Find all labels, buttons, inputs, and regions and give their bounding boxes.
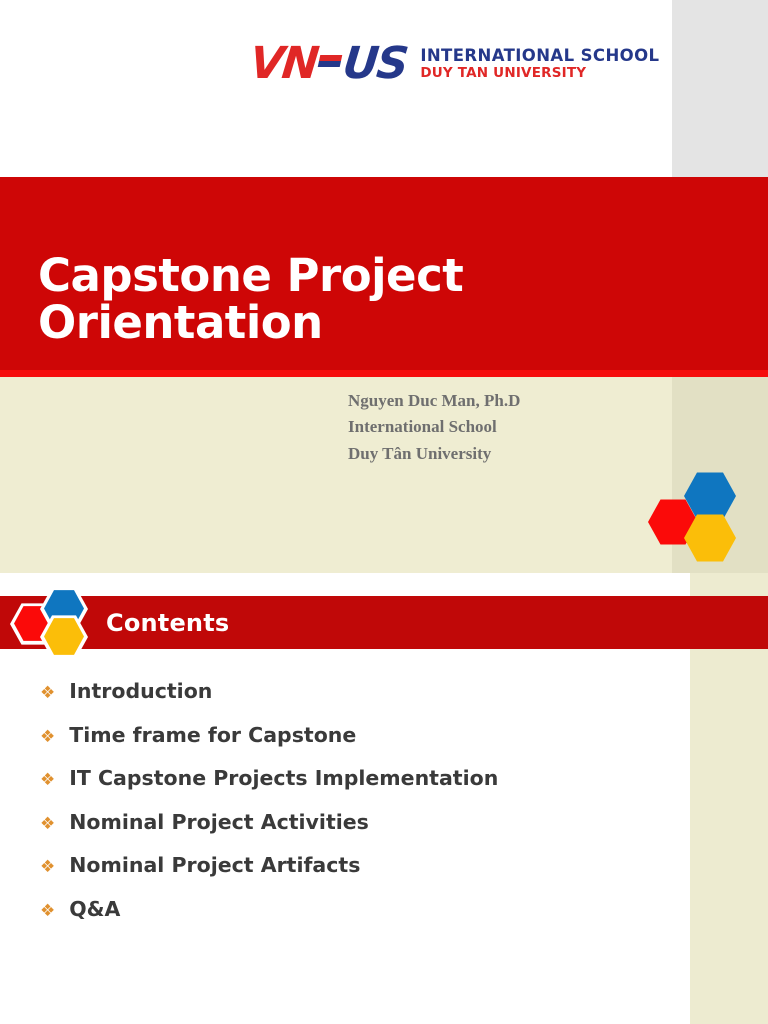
- vn-us-logo: VN US INTERNATIONAL SCHOOL DUY TAN UNIVE…: [250, 42, 659, 86]
- author-block: Nguyen Duc Man, Ph.D International Schoo…: [348, 388, 520, 467]
- list-item-label: Time frame for Capstone: [69, 724, 356, 747]
- list-item-label: Nominal Project Artifacts: [69, 854, 360, 877]
- contents-hexagon-cluster-icon: [4, 586, 96, 660]
- logo-duy-tan-university-text: DUY TAN UNIVERSITY: [420, 66, 659, 82]
- list-item[interactable]: ❖ Nominal Project Artifacts: [40, 854, 640, 877]
- diamond-bullet-icon: ❖: [40, 903, 55, 920]
- diamond-bullet-icon: ❖: [40, 859, 55, 876]
- logo-international-school-text: INTERNATIONAL SCHOOL: [420, 46, 659, 65]
- author-university: Duy Tân University: [348, 441, 520, 467]
- list-item[interactable]: ❖ Introduction: [40, 680, 640, 703]
- logo-dash-icon: [318, 55, 343, 67]
- list-item[interactable]: ❖ Time frame for Capstone: [40, 724, 640, 747]
- logo-wordmark-icon: VN US: [250, 42, 406, 86]
- presentation-slide: VN US INTERNATIONAL SCHOOL DUY TAN UNIVE…: [0, 0, 768, 1024]
- diamond-bullet-icon: ❖: [40, 816, 55, 833]
- top-gray-band: [672, 0, 768, 177]
- author-name: Nguyen Duc Man, Ph.D: [348, 388, 520, 414]
- diamond-bullet-icon: ❖: [40, 772, 55, 789]
- bottom-beige-column: [690, 649, 768, 1024]
- page-title: Capstone Project Orientation: [38, 252, 738, 347]
- hexagon-cluster-decoration: [648, 468, 748, 568]
- logo-us-text: US: [341, 42, 409, 86]
- list-item-label: Introduction: [69, 680, 212, 703]
- list-item[interactable]: ❖ IT Capstone Projects Implementation: [40, 767, 640, 790]
- bottom-beige-column-top: [690, 573, 768, 596]
- diamond-bullet-icon: ❖: [40, 729, 55, 746]
- list-item-label: IT Capstone Projects Implementation: [69, 767, 498, 790]
- logo-vn-text: VN: [248, 42, 320, 86]
- list-item-label: Q&A: [69, 898, 120, 921]
- title-accent-stripe: [0, 370, 768, 377]
- list-item[interactable]: ❖ Q&A: [40, 898, 640, 921]
- list-item-label: Nominal Project Activities: [69, 811, 369, 834]
- logo-text-block: INTERNATIONAL SCHOOL DUY TAN UNIVERSITY: [420, 46, 659, 81]
- diamond-bullet-icon: ❖: [40, 685, 55, 702]
- author-school: International School: [348, 414, 520, 440]
- contents-list: ❖ Introduction ❖ Time frame for Capstone…: [40, 680, 640, 941]
- list-item[interactable]: ❖ Nominal Project Activities: [40, 811, 640, 834]
- contents-heading: Contents: [106, 609, 229, 637]
